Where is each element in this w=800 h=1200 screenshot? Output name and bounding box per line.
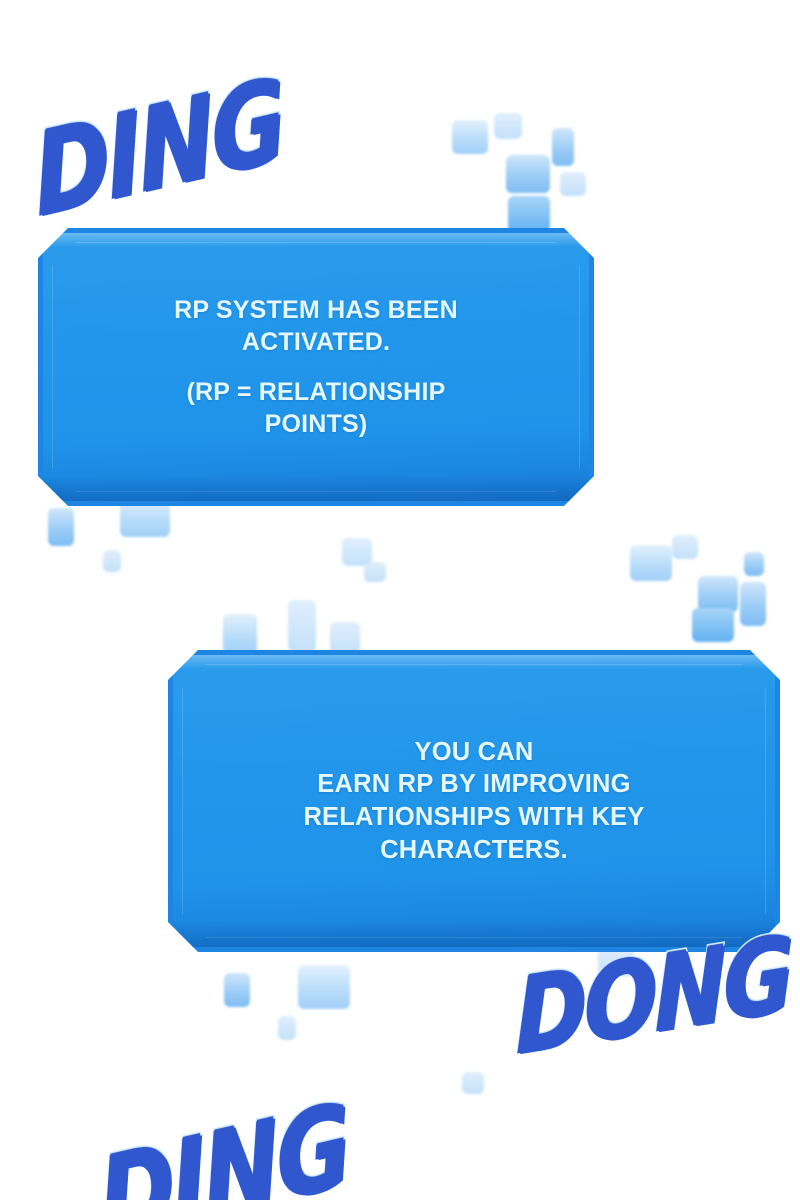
- sfx-ding-top: DING: [30, 63, 288, 233]
- pixel-square: [452, 120, 488, 154]
- system-message-box-rp-activated: RP SYSTEM HAS BEEN ACTIVATED. (RP = RELA…: [38, 228, 594, 506]
- box2-top-highlight: [173, 655, 775, 669]
- box1-line-4: POINTS): [174, 408, 458, 440]
- pixel-square: [364, 562, 386, 582]
- pixel-square: [462, 1072, 484, 1094]
- system-message-box-rp-earn: YOU CAN EARN RP BY IMPROVING RELATIONSHI…: [168, 650, 780, 952]
- comic-panel: DING RP SYSTEM HAS BEEN ACTIVATED. (RP =…: [0, 0, 800, 1200]
- box1-top-highlight: [43, 233, 589, 247]
- sfx-ding-top-text: DING: [29, 53, 289, 242]
- pixel-square: [506, 155, 550, 193]
- pixel-square: [672, 535, 698, 559]
- pixel-square: [278, 1016, 296, 1040]
- pixel-square: [692, 608, 734, 642]
- pixel-square: [48, 508, 74, 546]
- box1-bottom-shade: [43, 475, 589, 501]
- box1-line-2: ACTIVATED.: [174, 326, 458, 358]
- box2-line-2: EARN RP BY IMPROVING: [303, 768, 644, 801]
- pixel-square: [552, 128, 574, 166]
- pixel-square: [630, 545, 672, 581]
- pixel-square: [298, 965, 350, 1009]
- pixel-square: [740, 582, 766, 626]
- box1-line-3: (RP = RELATIONSHIP: [174, 376, 458, 408]
- box2-line-1: YOU CAN: [303, 736, 644, 769]
- sfx-ding-cutoff: DING: [95, 1088, 353, 1200]
- system-message-1-text: RP SYSTEM HAS BEEN ACTIVATED. (RP = RELA…: [174, 294, 458, 440]
- pixel-square: [224, 973, 250, 1007]
- box1-line-gap: [174, 358, 458, 376]
- pixel-square: [494, 113, 522, 139]
- pixel-square: [560, 172, 586, 196]
- pixel-square: [103, 550, 121, 572]
- box2-line-4: CHARACTERS.: [303, 834, 644, 867]
- box1-line-1: RP SYSTEM HAS BEEN: [174, 294, 458, 326]
- system-message-2-text: YOU CAN EARN RP BY IMPROVING RELATIONSHI…: [303, 736, 644, 867]
- sfx-ding-cutoff-text: DING: [94, 1078, 354, 1200]
- pixel-square: [288, 600, 316, 652]
- pixel-square: [744, 552, 764, 576]
- box2-line-3: RELATIONSHIPS WITH KEY: [303, 801, 644, 834]
- pixel-square: [698, 576, 738, 612]
